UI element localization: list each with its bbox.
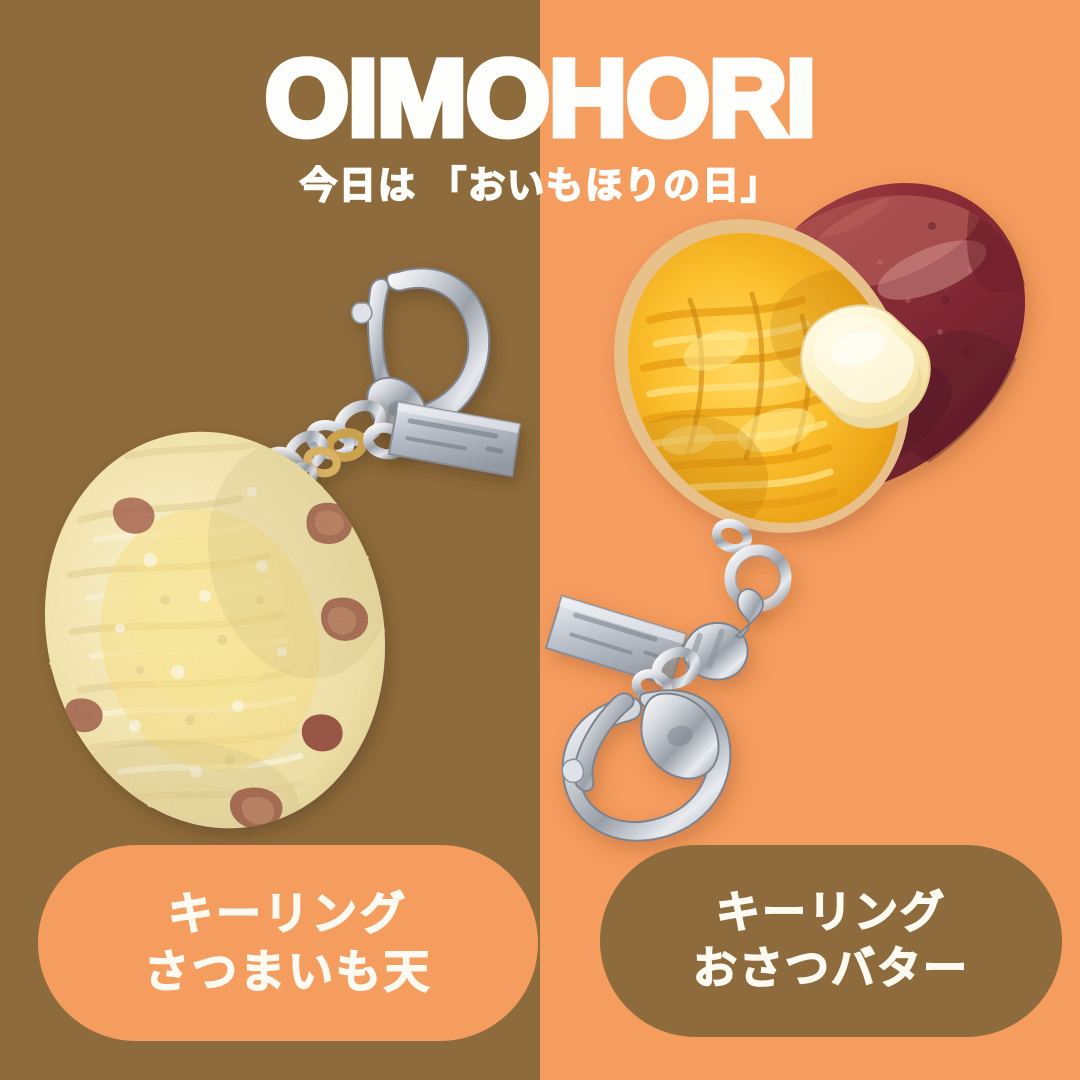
poster-canvas: OIMOHORI 今日は 「おいもほりの日」 (0, 0, 1080, 1080)
baked-sweet-potato-charm (554, 162, 1040, 590)
page-subtitle: 今日は 「おいもほりの日」 (0, 166, 1080, 207)
sweet-potato-tempura-charm (4, 395, 427, 880)
right-label-line-2: おさつバター (693, 941, 969, 997)
left-product-label-pill[interactable]: キーリング さつまいも天 (38, 845, 538, 1041)
right-d-clasp (562, 690, 730, 840)
left-label-line-2: さつまいも天 (144, 943, 432, 1001)
right-label-line-1: キーリング (716, 885, 946, 941)
right-brand-tag (546, 596, 686, 686)
right-product-label-pill[interactable]: キーリング おさつバター (600, 845, 1062, 1037)
left-label-line-1: キーリング (168, 885, 408, 943)
header: OIMOHORI 今日は 「おいもほりの日」 (0, 44, 1080, 207)
page-title: OIMOHORI (0, 44, 1080, 152)
left-brand-tag (389, 402, 520, 476)
